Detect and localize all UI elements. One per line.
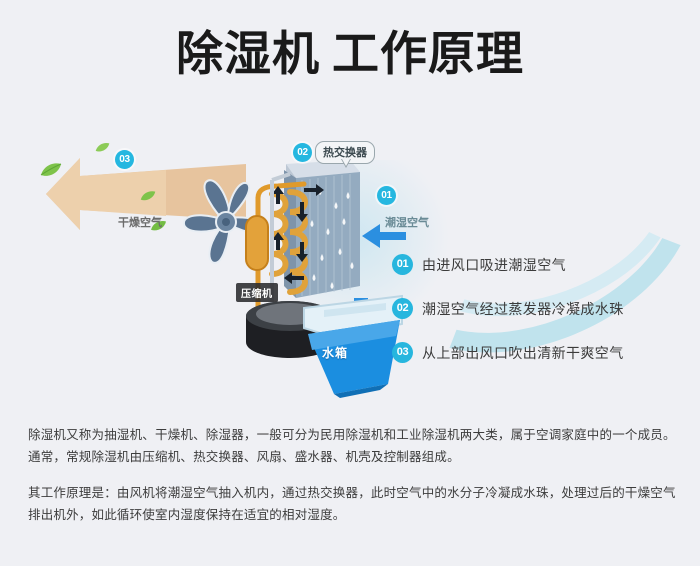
dry-air-label: 干燥空气 (118, 214, 162, 230)
compressor-label: 压缩机 (236, 283, 278, 302)
legend-item-03: 03 从上部出风口吹出清新干爽空气 (392, 341, 682, 364)
legend-item-01: 01 由进风口吸进潮湿空气 (392, 253, 682, 276)
title-part-one: 除湿机 (176, 27, 320, 80)
page-title: 除湿机工作原理 (0, 28, 700, 80)
diagram-badge-02: 02 (293, 143, 312, 162)
callout-pointer-icon (341, 159, 351, 168)
diagram-badge-03: 03 (115, 150, 134, 169)
leaf-icon (40, 162, 62, 178)
legend-text-01: 由进风口吸进潮湿空气 (422, 255, 566, 275)
title-part-two: 工作原理 (332, 27, 524, 80)
water-tank-label: 水箱 (322, 344, 348, 361)
paragraph-1-line-2: 通常，常规除湿机由压缩机、热交换器、风扇、盛水器、机壳及控制器组成。 (28, 446, 676, 468)
legend-badge-01: 01 (392, 254, 413, 275)
leaf-icon (140, 190, 156, 202)
legend-item-02: 02 潮湿空气经过蒸发器冷凝成水珠 (392, 297, 682, 320)
legend-badge-02: 02 (392, 298, 413, 319)
humid-air-label: 潮湿空气 (385, 214, 429, 230)
diagram-badge-01: 01 (377, 186, 396, 205)
legend-text-03: 从上部出风口吹出清新干爽空气 (422, 343, 624, 363)
legend-list: 01 由进风口吸进潮湿空气 02 潮湿空气经过蒸发器冷凝成水珠 03 从上部出风… (392, 253, 682, 385)
paragraph-2-line-2: 排出机外，如此循环使室内湿度保持在适宜的相对湿度。 (28, 504, 676, 526)
paragraph-1-line-1: 除湿机又称为抽湿机、干燥机、除湿器，一般可分为民用除湿机和工业除湿机两大类，属于… (28, 424, 676, 446)
paragraph-spacer (28, 468, 676, 482)
legend-badge-03: 03 (392, 342, 413, 363)
paragraph-2-line-1: 其工作原理是：由风机将潮湿空气抽入机内，通过热交换器，此时空气中的水分子冷凝成水… (28, 482, 676, 504)
legend-text-02: 潮湿空气经过蒸发器冷凝成水珠 (422, 299, 624, 319)
leaf-icon (95, 142, 110, 153)
body-copy: 除湿机又称为抽湿机、干燥机、除湿器，一般可分为民用除湿机和工业除湿机两大类，属于… (28, 424, 676, 526)
